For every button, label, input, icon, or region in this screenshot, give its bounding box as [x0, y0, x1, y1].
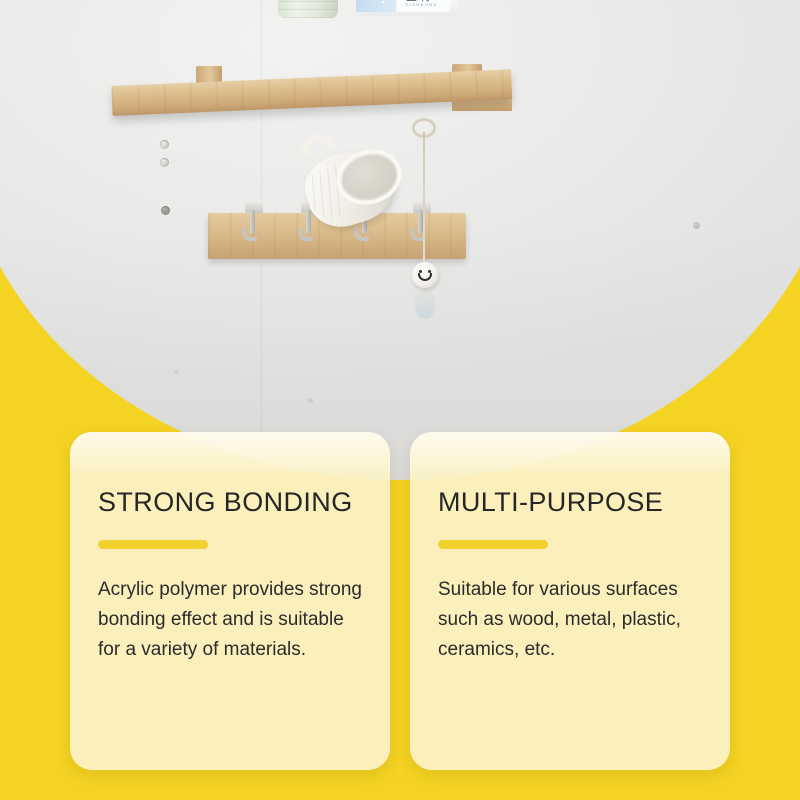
- product-photo: 鱼骨 FISHBONE: [0, 0, 800, 480]
- feature-card-divider: [438, 540, 548, 549]
- smiley-mouth: [418, 273, 432, 281]
- pendant-cord: [423, 132, 425, 264]
- pendant-smiley-ball: [412, 262, 438, 288]
- screw-hole: [161, 206, 170, 215]
- feature-card-strong-bonding: STRONG BONDING Acrylic polymer provides …: [70, 432, 390, 770]
- pot-ribs: [278, 0, 338, 18]
- feature-card-divider: [98, 540, 208, 549]
- wall-dot: [308, 398, 313, 403]
- jar-label: 鱼骨 FISHBONE: [356, 0, 450, 12]
- plant-pot: [278, 0, 338, 18]
- pendant-tail: [415, 285, 435, 319]
- wall-dot: [174, 370, 178, 374]
- jar-label-subtext: FISHBONE: [406, 2, 438, 7]
- feature-card-multi-purpose: MULTI-PURPOSE Suitable for various surfa…: [410, 432, 730, 770]
- product-feature-poster: 鱼骨 FISHBONE STRONG BON: [0, 0, 800, 800]
- coat-hook: [410, 200, 432, 242]
- glass-jar: 鱼骨 FISHBONE: [358, 0, 458, 16]
- screw-hole: [160, 158, 169, 167]
- hook-tip: [242, 228, 257, 241]
- screw-hole: [160, 140, 169, 149]
- feature-card-title: MULTI-PURPOSE: [438, 488, 702, 518]
- feature-card-list: STRONG BONDING Acrylic polymer provides …: [70, 432, 730, 770]
- feature-card-body: Acrylic polymer provides strong bonding …: [98, 575, 362, 665]
- ceramic-mug: [300, 142, 410, 232]
- feature-card-title: STRONG BONDING: [98, 488, 362, 518]
- coat-hook: [242, 200, 264, 242]
- wall-dot: [693, 222, 700, 229]
- feature-card-body: Suitable for various surfaces such as wo…: [438, 575, 702, 665]
- jar-label-pattern: [356, 0, 400, 12]
